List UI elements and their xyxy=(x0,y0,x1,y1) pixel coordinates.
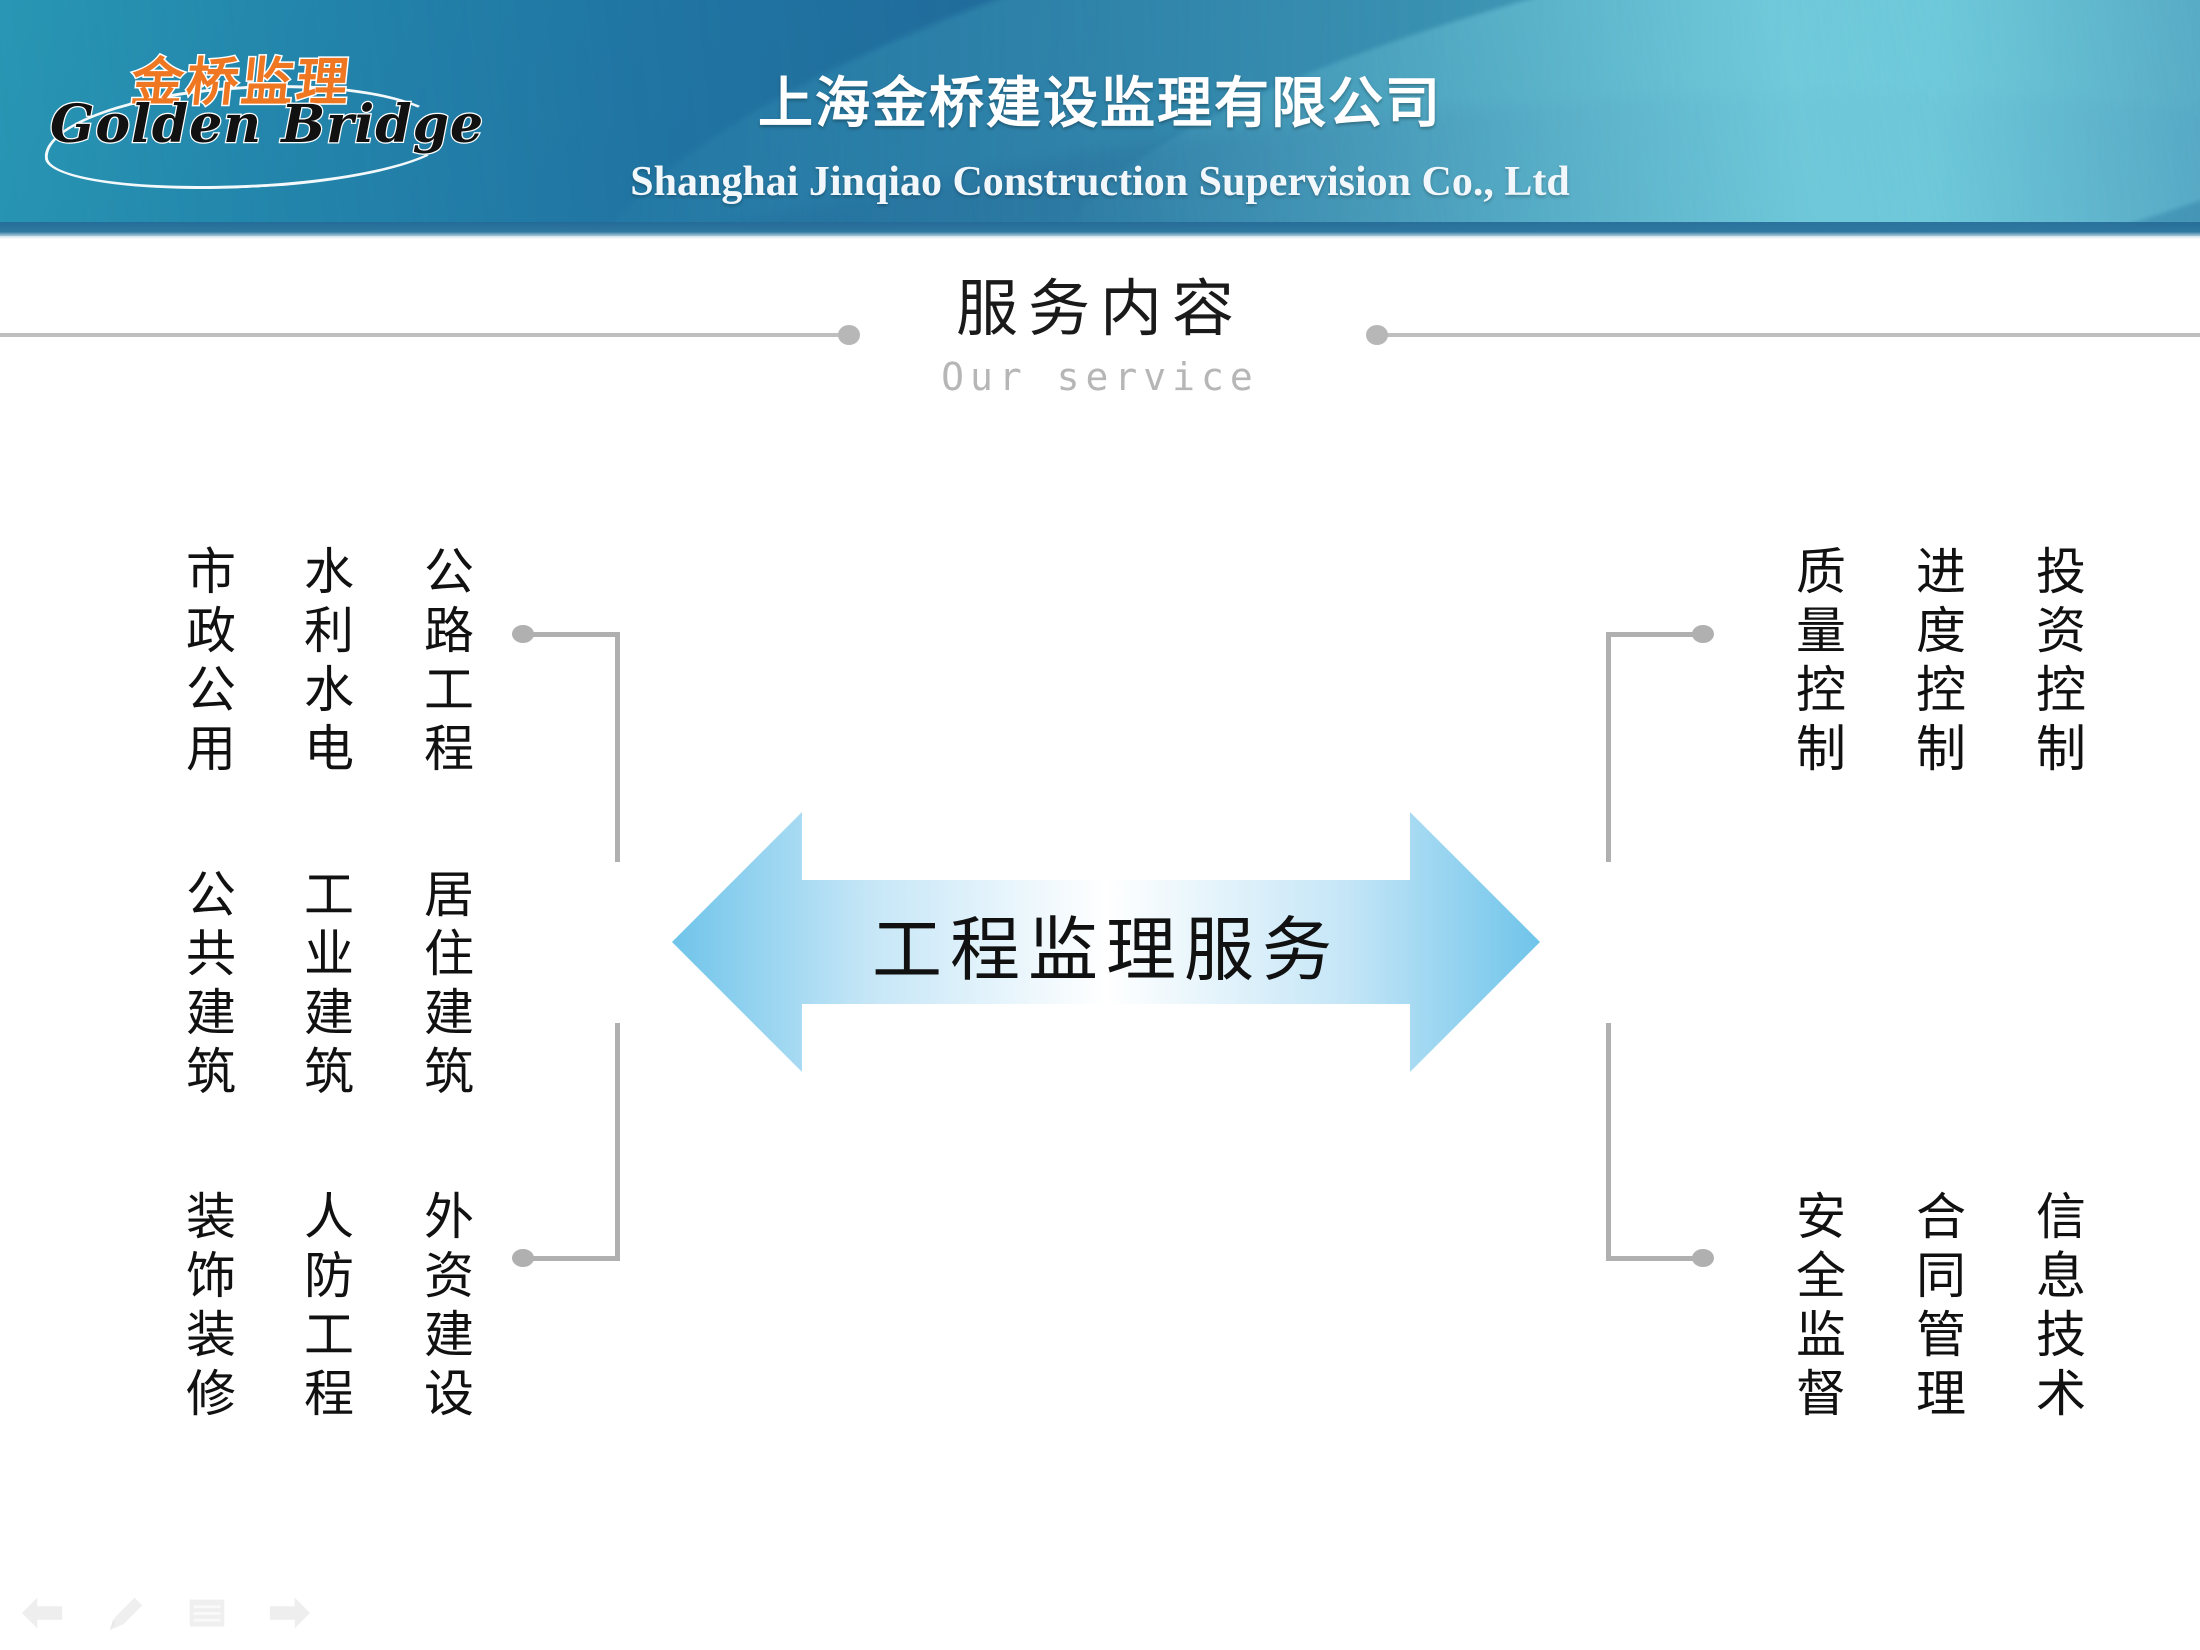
right-bracket-lower-stem xyxy=(1606,1023,1611,1261)
next-arrow-icon[interactable] xyxy=(266,1590,312,1636)
company-name-english: Shanghai Jinqiao Construction Supervisio… xyxy=(0,158,2200,206)
right-bracket-lower-arm xyxy=(1606,1256,1699,1261)
left-bracket-lower-stem xyxy=(615,1023,620,1261)
right-item-jindu-kongzhi: 进度控制 xyxy=(1910,545,1964,781)
left-item-gonggong-jianzhu: 公共建筑 xyxy=(180,868,234,1104)
left-item-gonglu-gongcheng: 公路工程 xyxy=(418,545,472,781)
left-item-shizheng-gongyong: 市政公用 xyxy=(180,545,234,781)
right-bracket-upper-dot xyxy=(1692,625,1714,643)
menu-icon[interactable] xyxy=(184,1590,230,1636)
right-bracket-upper-stem xyxy=(1606,632,1611,862)
previous-arrow-icon[interactable] xyxy=(20,1590,66,1636)
footer-navigation xyxy=(20,1590,312,1636)
left-bracket-upper-arm xyxy=(527,632,620,637)
left-bracket-lower-dot xyxy=(512,1249,534,1267)
double-arrow-graphic: 工程监理服务 xyxy=(672,808,1540,1076)
left-bracket-lower-arm xyxy=(527,1256,620,1261)
left-item-juzhu-jianzhu: 居住建筑 xyxy=(418,868,472,1104)
pen-icon[interactable] xyxy=(102,1590,148,1636)
left-item-zhuangshi-zhuangxiu: 装饰装修 xyxy=(180,1190,234,1426)
right-item-zhiliang-kongzhi: 质量控制 xyxy=(1790,545,1844,781)
right-item-hetong-guanli: 合同管理 xyxy=(1910,1190,1964,1426)
left-bracket-upper-stem xyxy=(615,632,620,862)
page-subtitle: Our service xyxy=(0,355,2200,399)
banner-hairline-divider xyxy=(0,236,2200,239)
page-title: 服务内容 xyxy=(0,258,2200,348)
header-banner: 金桥监理 Golden Bridge 上海金桥建设监理有限公司 Shanghai… xyxy=(0,0,2200,238)
right-item-anquan-jiandu: 安全监督 xyxy=(1790,1190,1844,1426)
left-bracket-upper-dot xyxy=(512,625,534,643)
left-item-shuili-shuidian: 水利水电 xyxy=(298,545,352,781)
left-item-gongye-jianzhu: 工业建筑 xyxy=(298,868,352,1104)
left-item-renfang-gongcheng: 人防工程 xyxy=(298,1190,352,1426)
right-item-touzi-kongzhi: 投资控制 xyxy=(2030,545,2084,781)
company-name-chinese: 上海金桥建设监理有限公司 xyxy=(0,58,2200,138)
left-item-waizi-jianshe: 外资建设 xyxy=(418,1190,472,1426)
right-item-xinxi-jishu: 信息技术 xyxy=(2030,1190,2084,1426)
center-label: 工程监理服务 xyxy=(672,894,1540,995)
right-bracket-upper-arm xyxy=(1606,632,1699,637)
right-bracket-lower-dot xyxy=(1692,1249,1714,1267)
